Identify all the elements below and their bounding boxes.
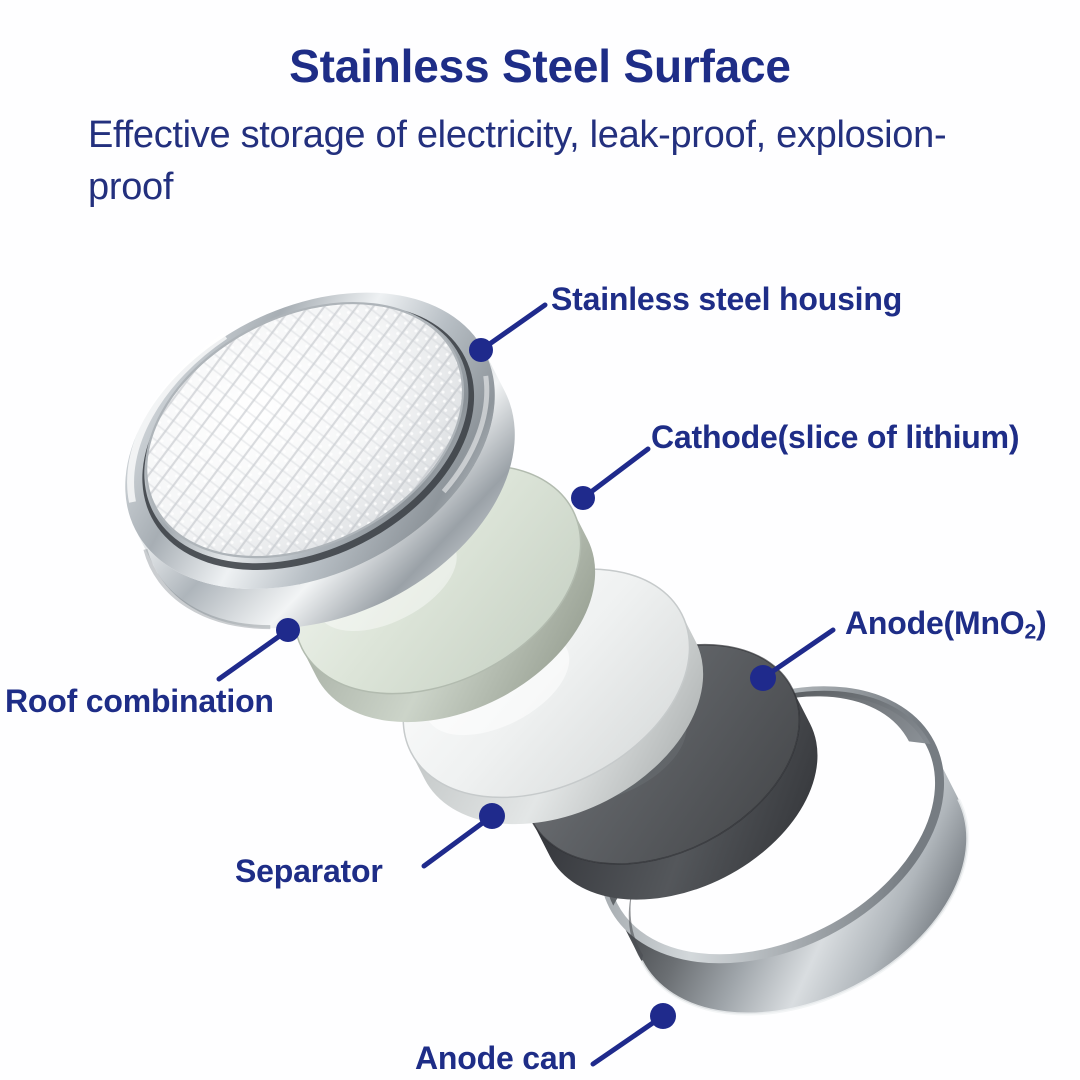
leader-anode (763, 630, 833, 678)
part-separator (365, 523, 742, 870)
dot-housing (469, 338, 493, 362)
part-cathode (256, 420, 634, 768)
leader-roof (219, 630, 288, 679)
header: Stainless Steel Surface Effective storag… (0, 0, 1080, 214)
callout-label-separator: Separator (235, 855, 383, 887)
dot-roof (276, 618, 300, 642)
dot-anode (750, 665, 776, 691)
dot-separator (479, 803, 505, 829)
page-subtitle: Effective storage of electricity, leak-p… (88, 110, 1018, 213)
callout-label-anode: Anode(MnO2) (845, 607, 1047, 643)
part-stainless-housing (73, 233, 565, 688)
part-anode (487, 601, 854, 944)
dot-cathode (571, 486, 595, 510)
subscript-2: 2 (1025, 621, 1037, 644)
callout-label-cathode: Cathode(slice of lithium) (651, 421, 1019, 453)
page-title: Stainless Steel Surface (0, 42, 1080, 90)
diagram-canvas: Stainless Steel Surface Effective storag… (0, 0, 1080, 1080)
part-anode-can (558, 637, 1013, 1068)
callout-label-anode-can: Anode can (415, 1042, 577, 1074)
callout-label-stainless-steel-housing: Stainless steel housing (551, 283, 902, 315)
leader-housing (481, 305, 545, 350)
dot-anode-can (650, 1003, 676, 1029)
leader-anode-can (593, 1016, 663, 1064)
leader-separator (424, 816, 492, 866)
callout-label-roof-combination: Roof combination (5, 685, 274, 717)
leader-cathode (583, 449, 648, 498)
